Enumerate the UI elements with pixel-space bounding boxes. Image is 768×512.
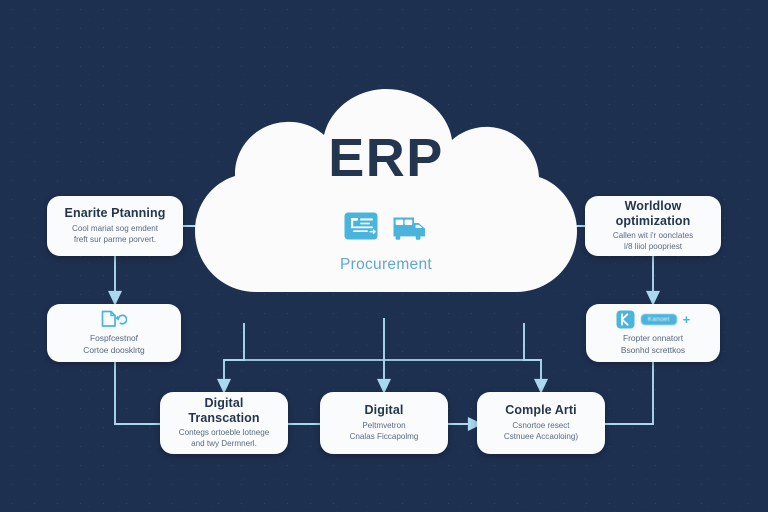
node-sub-line-2: Bsonhd screttkos xyxy=(621,345,685,356)
diagram-canvas: ERP Pro xyxy=(0,0,768,512)
node-title: Digital xyxy=(365,403,404,417)
node-title: Enarite Ptanning xyxy=(65,206,166,220)
connector-forecast-to-transaction xyxy=(115,362,160,424)
kanban-icon-group: Kanoet + xyxy=(616,310,690,329)
node-desc-line-1: Contegs ortoeble lotnege xyxy=(179,428,269,439)
forecast-icon-group xyxy=(101,310,127,329)
node-desc-line-2: and twy Dermnerl. xyxy=(191,439,257,450)
node-desc-line-1: Csnortoe resect xyxy=(512,421,569,432)
document-refresh-icon xyxy=(101,310,127,329)
node-desc-line-2: l/8 liiol poopriest xyxy=(624,242,682,253)
node-card-compile[interactable]: Comple Arti Csnortoe resect Cstnuee Acca… xyxy=(477,392,605,454)
node-desc-line-2: Cnalas Ficcapolmg xyxy=(350,432,419,443)
node-sub-line-1: Fropter onnatort xyxy=(623,333,683,344)
node-desc-line-2: Cstnuee Accaoloing) xyxy=(504,432,578,443)
node-desc-line-1: Cool mariat sog emdent xyxy=(72,224,158,235)
node-card-workflow-optimization[interactable]: Worldlow optimization Callen wit i'r oon… xyxy=(585,196,721,256)
node-card-kanban[interactable]: Kanoet + Fropter onnatort Bsonhd screttk… xyxy=(586,304,720,362)
node-card-forecast[interactable]: Fospfcestnof Cortoe doosklrtg xyxy=(47,304,181,362)
kanban-tag-badge[interactable]: Kanoet xyxy=(641,314,677,325)
node-card-digital-transaction[interactable]: Digital Transcation Contegs ortoeble lot… xyxy=(160,392,288,454)
node-sub-line-2: Cortoe doosklrtg xyxy=(83,345,144,356)
plus-icon[interactable]: + xyxy=(683,313,691,326)
node-desc-line-2: freft sur parme porvert. xyxy=(74,235,156,246)
node-title: Worldlow optimization xyxy=(595,199,711,228)
node-card-digital[interactable]: Digital Peltmvetron Cnalas Ficcapolmg xyxy=(320,392,448,454)
node-card-enterprise-planning[interactable]: Enarite Ptanning Cool mariat sog emdent … xyxy=(47,196,183,256)
node-title: Comple Arti xyxy=(505,403,576,417)
node-sub-line-1: Fospfcestnof xyxy=(90,333,138,344)
connector-kanban-to-compile xyxy=(605,362,653,424)
erp-cloud-shape xyxy=(190,85,582,333)
node-title: Digital Transcation xyxy=(170,396,278,425)
kanban-board-icon[interactable] xyxy=(616,310,635,329)
node-desc-line-1: Callen wit i'r oonclates xyxy=(613,231,693,242)
node-desc-line-1: Peltmvetron xyxy=(362,421,405,432)
